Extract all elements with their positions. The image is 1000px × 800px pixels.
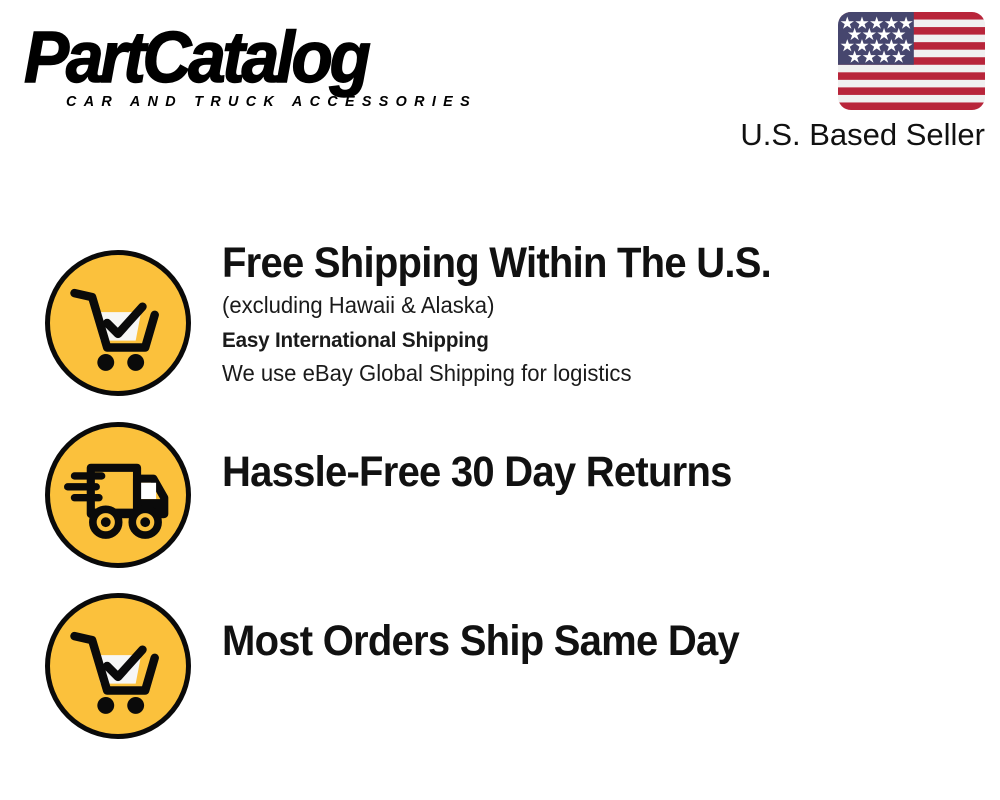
delivery-truck-icon <box>45 422 191 568</box>
feature-subtitle-exclusion: (excluding Hawaii & Alaska) <box>222 289 932 321</box>
feature-title: Free Shipping Within The U.S. <box>222 238 910 288</box>
brand-tagline: CAR AND TRUCK ACCESSORIES <box>66 94 477 110</box>
us-based-seller-label: U.S. Based Seller <box>740 116 985 154</box>
feature-text-block: Most Orders Ship Same Day <box>222 616 962 666</box>
promo-banner: PartCatalog CAR AND TRUCK ACCESSORIES <box>0 0 1000 800</box>
banner-header: PartCatalog CAR AND TRUCK ACCESSORIES <box>0 0 1000 175</box>
feature-row: Hassle-Free 30 Day Returns <box>0 409 1000 580</box>
feature-row: Most Orders Ship Same Day <box>0 580 1000 752</box>
shopping-cart-check-icon <box>45 250 191 396</box>
feature-title: Hassle-Free 30 Day Returns <box>222 447 910 497</box>
feature-row: Free Shipping Within The U.S. (excluding… <box>0 238 1000 410</box>
brand-logo: PartCatalog CAR AND TRUCK ACCESSORIES <box>24 22 494 117</box>
feature-subtitle-international: Easy International Shipping <box>222 325 932 355</box>
feature-text-block: Hassle-Free 30 Day Returns <box>222 447 962 497</box>
feature-subtitle-logistics: We use eBay Global Shipping for logistic… <box>222 357 932 389</box>
brand-wordmark: PartCatalog <box>24 22 466 94</box>
feature-title: Most Orders Ship Same Day <box>222 616 910 666</box>
shopping-cart-check-icon <box>45 593 191 739</box>
us-flag-icon <box>838 12 985 110</box>
feature-text-block: Free Shipping Within The U.S. (excluding… <box>222 238 962 389</box>
